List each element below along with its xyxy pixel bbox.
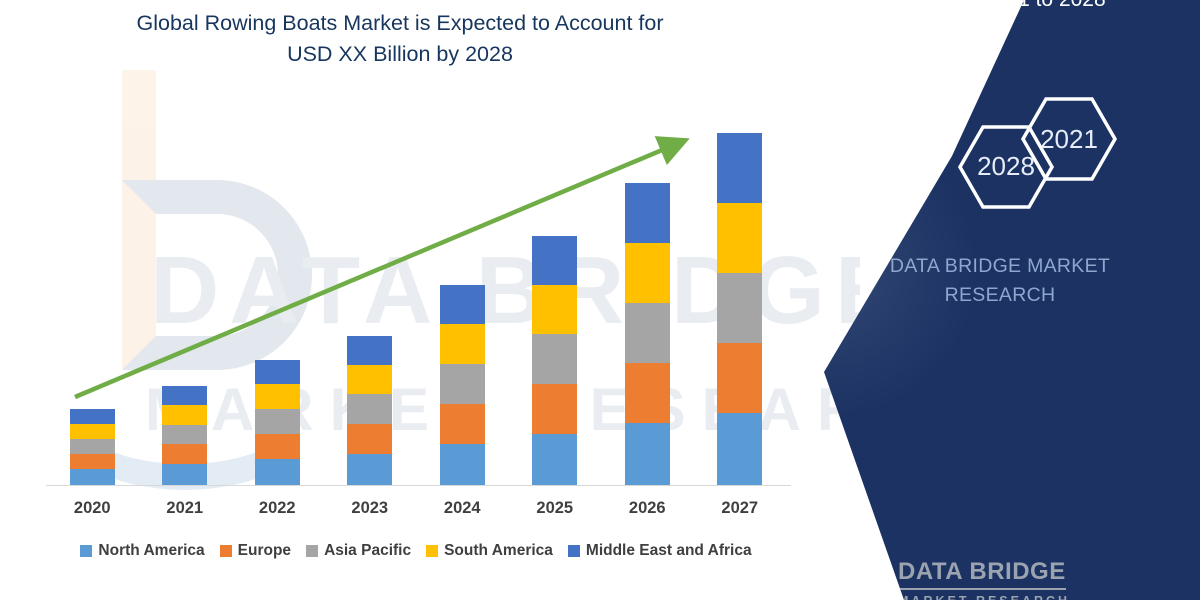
bar-segment [532,384,577,434]
bar-segment [162,464,207,485]
bar-segment [70,424,115,439]
bar-segment [625,183,670,243]
legend-item[interactable]: North America [80,542,204,560]
legend-swatch [306,545,318,557]
hexagon-2028-label: 2028 [977,151,1035,181]
bar-segment [717,203,762,273]
legend-item[interactable]: South America [426,542,553,560]
hexagon-outline-icons: 2028 2021 [920,95,1130,230]
bar-segment [717,133,762,203]
chart-panel: DATA BRIDGE MARKET RESEARCH Global Rowin… [0,0,860,600]
bar-segment [717,273,762,343]
logo-word-primary: DATA BRIDGE [898,558,1066,590]
stacked-bar [440,285,485,485]
bar-segment [440,364,485,404]
x-axis-tick-label: 2021 [143,499,227,518]
legend-item[interactable]: Middle East and Africa [568,542,752,560]
bar-segment [717,343,762,413]
bar-segment [347,454,392,485]
panel-title-line1: Regions, 2021 to 2028 [820,0,1180,16]
bar-segment [440,404,485,444]
bar-segment [347,394,392,424]
bar-segment [625,303,670,363]
x-axis-tick-label: 2022 [235,499,319,518]
bar-segment [717,413,762,485]
legend-swatch [568,545,580,557]
bar-column [50,120,134,485]
bar-segment [162,444,207,464]
bar-segment [532,434,577,485]
legend-label: North America [98,542,204,560]
bar-segment [532,285,577,334]
legend-label: South America [444,542,553,560]
bar-segment [532,334,577,384]
stacked-bar [347,336,392,485]
bar-segment [625,243,670,303]
legend-item[interactable]: Asia Pacific [306,542,411,560]
stacked-bar [717,133,762,485]
infographic-canvas: DATA BRIDGE MARKET RESEARCH Global Rowin… [0,0,1200,600]
bar-segment [255,409,300,434]
panel-title: Regions, 2021 to 2028 [820,0,1180,16]
brand-text: DATA BRIDGE MARKET RESEARCH [820,252,1180,311]
legend-label: Asia Pacific [324,542,411,560]
bar-column [698,120,782,485]
legend-swatch [426,545,438,557]
bar-segment [162,386,207,405]
stacked-bar [255,360,300,485]
stacked-bar [70,409,115,485]
legend-swatch [80,545,92,557]
bar-segment [162,405,207,425]
bar-segment [162,425,207,444]
bar-segment [625,423,670,485]
bar-segment [255,434,300,459]
x-axis-labels: 20202021202220232024202520262027 [46,492,786,524]
x-axis-tick-label: 2024 [420,499,504,518]
x-axis-line [46,485,791,486]
legend-item[interactable]: Europe [220,542,291,560]
logo-word-secondary: MARKET RESEARCH [898,594,1070,600]
bar-column [235,120,319,485]
company-logo: DATA BRIDGE MARKET RESEARCH [842,556,1142,600]
x-axis-tick-label: 2025 [513,499,597,518]
bar-segment [70,454,115,469]
bar-segment [255,459,300,485]
chart-title-line2: USD XX Billion by 2028 [80,39,720,70]
brand-text-line2: RESEARCH [820,281,1180,310]
chart-title: Global Rowing Boats Market is Expected t… [80,8,720,70]
bar-segment [347,336,392,365]
bar-column [143,120,227,485]
x-axis-tick-label: 2027 [698,499,782,518]
hexagon-2021-label: 2021 [1040,124,1098,154]
stacked-bar [162,386,207,485]
branding-panel: Regions, 2021 to 2028 2028 2021 DATA BRI… [800,0,1200,600]
bar-segment [440,285,485,324]
bar-segment [440,444,485,485]
bar-column [420,120,504,485]
bar-segment [347,365,392,394]
logo-wordmark: DATA BRIDGE MARKET RESEARCH [898,558,1070,600]
stacked-bar [532,236,577,485]
bar-segment [70,439,115,454]
stacked-bar [625,183,670,485]
legend-label: Europe [238,542,291,560]
stacked-bar-group [46,120,786,485]
bar-segment [70,409,115,424]
bar-segment [255,360,300,384]
bar-segment [255,384,300,409]
x-axis-tick-label: 2020 [50,499,134,518]
bar-segment [70,469,115,485]
chart-legend: North AmericaEuropeAsia PacificSouth Ame… [46,536,786,566]
bar-segment [532,236,577,285]
bar-column [328,120,412,485]
hexagon-badges: 2028 2021 [920,95,1130,225]
brand-text-line1: DATA BRIDGE MARKET [820,252,1180,281]
x-axis-tick-label: 2023 [328,499,412,518]
bar-column [513,120,597,485]
bar-column [605,120,689,485]
bar-segment [440,324,485,364]
chart-title-line1: Global Rowing Boats Market is Expected t… [80,8,720,39]
bar-segment [625,363,670,423]
legend-label: Middle East and Africa [586,542,752,560]
bar-segment [347,424,392,454]
legend-swatch [220,545,232,557]
x-axis-tick-label: 2026 [605,499,689,518]
